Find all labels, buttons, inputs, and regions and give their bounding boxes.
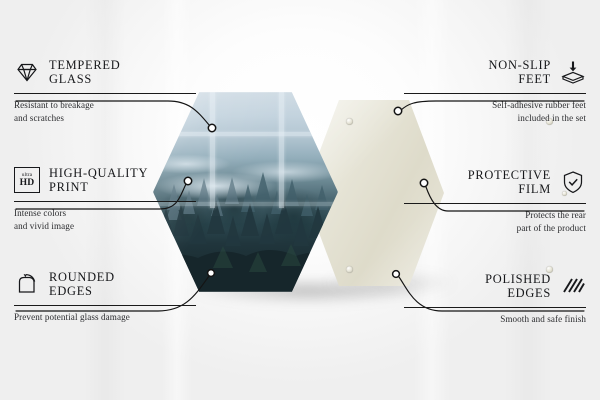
callout-tempered-glass: TEMPERED GLASS Resistant to breakage and… bbox=[14, 58, 196, 125]
callout-desc: Self-adhesive rubber feet bbox=[404, 99, 586, 112]
callout-title: GLASS bbox=[49, 72, 120, 86]
callout-title: POLISHED bbox=[485, 272, 551, 286]
callout-desc: Protects the rear bbox=[404, 209, 586, 222]
callout-title: EDGES bbox=[49, 284, 115, 298]
ultra-hd-badge-icon: ultra HD bbox=[14, 167, 40, 193]
callout-title: PRINT bbox=[49, 180, 148, 194]
press-down-pad-icon bbox=[560, 59, 586, 85]
callout-rounded-edges: ROUNDED EDGES Prevent potential glass da… bbox=[14, 270, 196, 324]
callout-title: EDGES bbox=[485, 286, 551, 300]
callout-title: PROTECTIVE bbox=[468, 168, 551, 182]
divider bbox=[14, 201, 196, 202]
callout-title: HIGH-QUALITY bbox=[49, 166, 148, 180]
divider bbox=[404, 203, 586, 204]
callout-desc: Smooth and safe finish bbox=[404, 313, 586, 326]
callout-desc: and vivid image bbox=[14, 220, 196, 233]
divider bbox=[14, 305, 196, 306]
divider bbox=[404, 307, 586, 308]
shield-check-icon bbox=[560, 169, 586, 195]
callout-desc: Prevent potential glass damage bbox=[14, 311, 196, 324]
callout-desc: and scratches bbox=[14, 112, 196, 125]
callout-polished-edges: POLISHED EDGES Smooth and safe finish bbox=[404, 272, 586, 326]
callout-title: FEET bbox=[489, 72, 551, 86]
diagonal-stripes-icon bbox=[560, 273, 586, 299]
callout-protective-film: PROTECTIVE FILM Protects the rear part o… bbox=[404, 168, 586, 235]
divider bbox=[404, 93, 586, 94]
callout-desc: Intense colors bbox=[14, 207, 196, 220]
badge-main-text: HD bbox=[20, 178, 35, 188]
rubber-foot bbox=[346, 118, 353, 125]
infographic-canvas: TEMPERED GLASS Resistant to breakage and… bbox=[0, 0, 600, 400]
rounded-corner-icon bbox=[14, 271, 40, 297]
callout-title: TEMPERED bbox=[49, 58, 120, 72]
callout-desc: Resistant to breakage bbox=[14, 99, 196, 112]
callout-title: NON-SLIP bbox=[489, 58, 551, 72]
callout-high-quality-print: ultra HD HIGH-QUALITY PRINT Intense colo… bbox=[14, 166, 196, 233]
rubber-foot bbox=[346, 266, 353, 273]
callout-non-slip-feet: NON-SLIP FEET Self-adhesive rubber feet … bbox=[404, 58, 586, 125]
callout-desc: part of the product bbox=[404, 222, 586, 235]
divider bbox=[14, 93, 196, 94]
callout-title: FILM bbox=[468, 182, 551, 196]
callout-title: ROUNDED bbox=[49, 270, 115, 284]
diamond-icon bbox=[14, 59, 40, 85]
callout-desc: included in the set bbox=[404, 112, 586, 125]
